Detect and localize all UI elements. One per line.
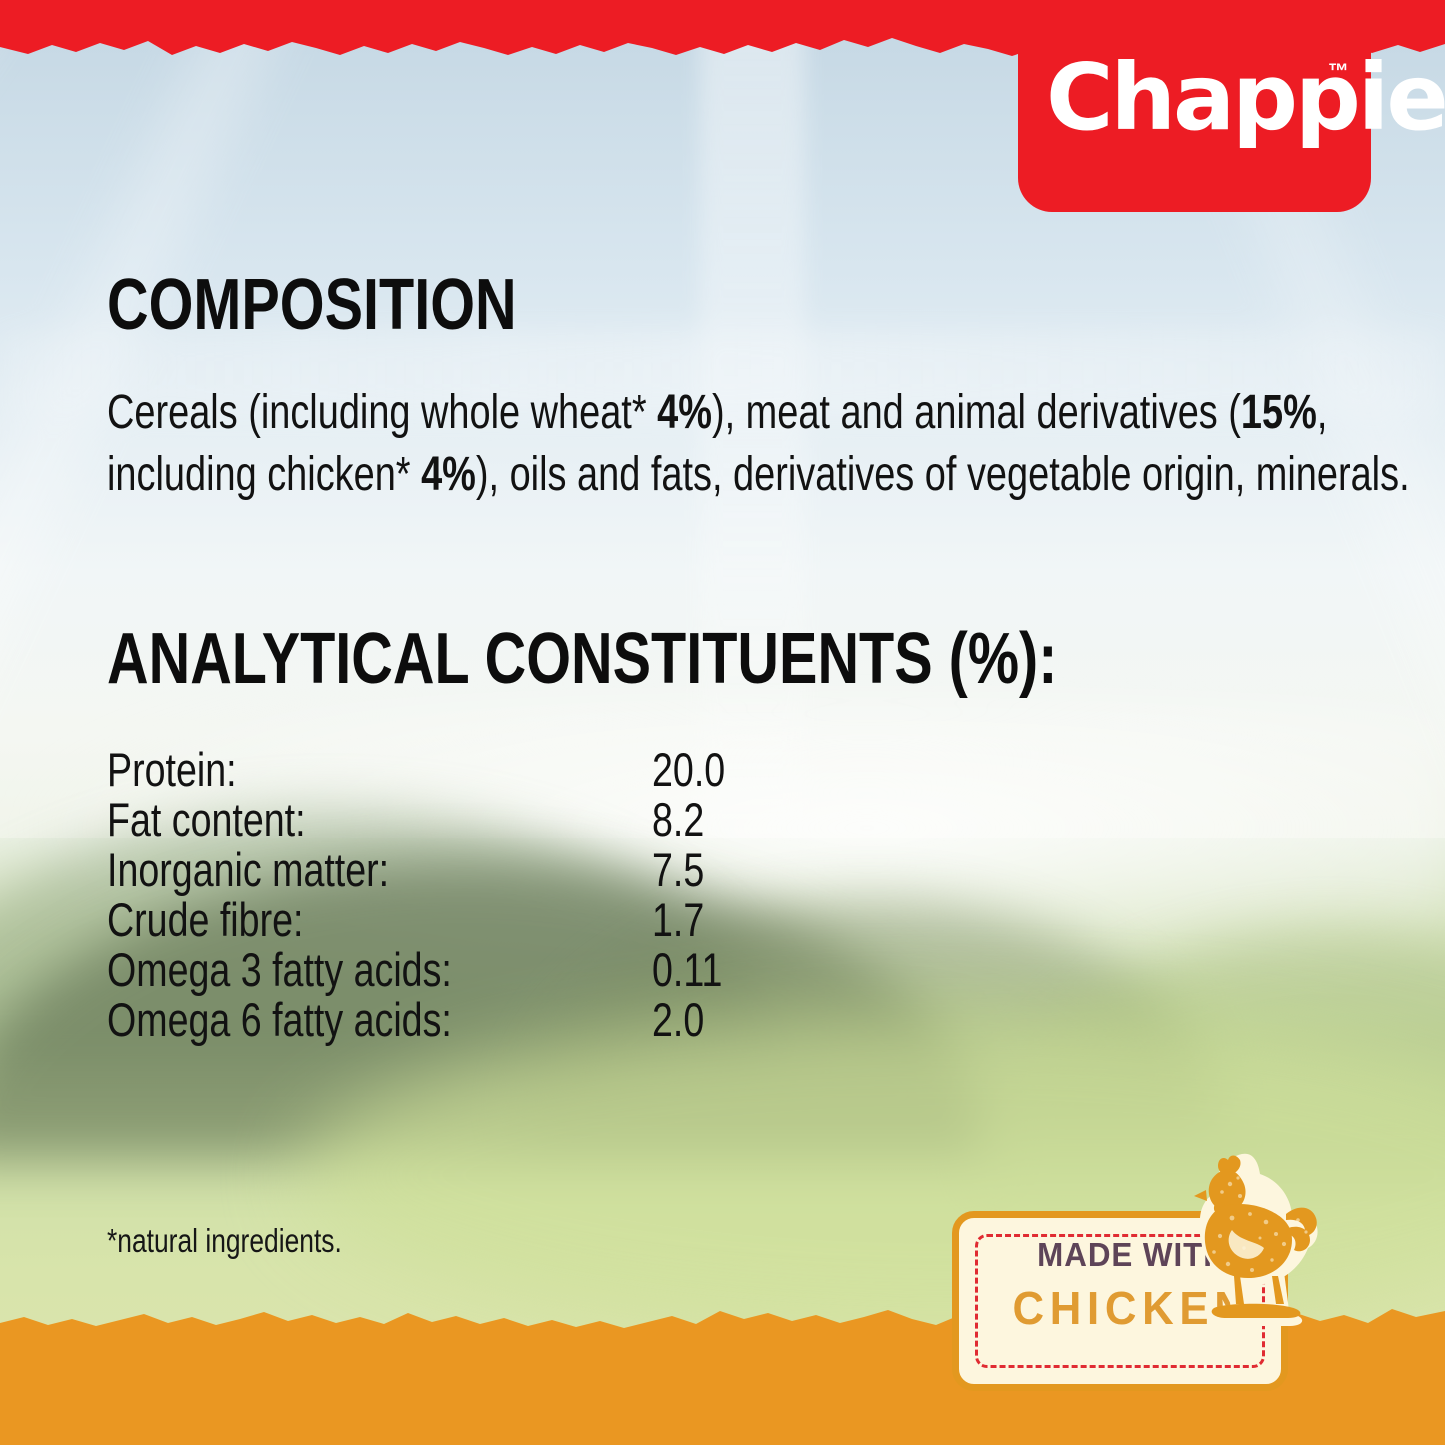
chicken-icon [1180, 1148, 1320, 1328]
nutrition-row: Omega 3 fatty acids:0.11 [107, 942, 912, 992]
trademark-symbol: ™ [1328, 60, 1349, 84]
made-with-chicken-badge: MADE WITH CHICKEN [952, 1148, 1312, 1408]
chappie-wordmark: Chappie [1046, 52, 1445, 144]
nutrition-value: 8.2 [652, 792, 860, 847]
nutrition-label: Protein: [107, 742, 543, 797]
nutrition-value: 0.11 [652, 942, 860, 997]
nutrition-label: Inorganic matter: [107, 842, 543, 897]
nutrition-value: 2.0 [652, 992, 860, 1047]
product-label-panel: Chappie ™ COMPOSITION Cereals (including… [0, 0, 1445, 1445]
composition-percent: 4% [421, 448, 476, 501]
composition-heading: COMPOSITION [107, 264, 517, 346]
nutrition-value: 1.7 [652, 892, 860, 947]
nutrition-label: Omega 3 fatty acids: [107, 942, 543, 997]
nutrition-row: Crude fibre:1.7 [107, 892, 912, 942]
analytical-constituents-table: Protein:20.0Fat content:8.2Inorganic mat… [107, 742, 912, 1042]
composition-text: ), meat and animal derivatives ( [712, 386, 1241, 439]
composition-percent: 4% [657, 386, 712, 439]
nutrition-row: Inorganic matter:7.5 [107, 842, 912, 892]
nutrition-row: Fat content:8.2 [107, 792, 912, 842]
nutrition-row: Omega 6 fatty acids:2.0 [107, 992, 912, 1042]
nutrition-label: Fat content: [107, 792, 543, 847]
chappie-logo: Chappie ™ [1018, 0, 1371, 212]
nutrition-label: Crude fibre: [107, 892, 543, 947]
composition-text: ), oils and fats, derivatives of vegetab… [476, 448, 1410, 501]
nutrition-value: 20.0 [652, 742, 860, 797]
composition-body-text: Cereals (including whole wheat* 4%), mea… [107, 382, 1445, 506]
composition-text: Cereals (including whole wheat* [107, 386, 657, 439]
nutrition-value: 7.5 [652, 842, 860, 897]
nutrition-row: Protein:20.0 [107, 742, 912, 792]
nutrition-label: Omega 6 fatty acids: [107, 992, 543, 1047]
composition-percent: 15% [1241, 386, 1317, 439]
footnote-natural-ingredients: *natural ingredients. [107, 1222, 342, 1260]
analytical-constituents-heading: ANALYTICAL CONSTITUENTS (%): [107, 618, 1057, 700]
